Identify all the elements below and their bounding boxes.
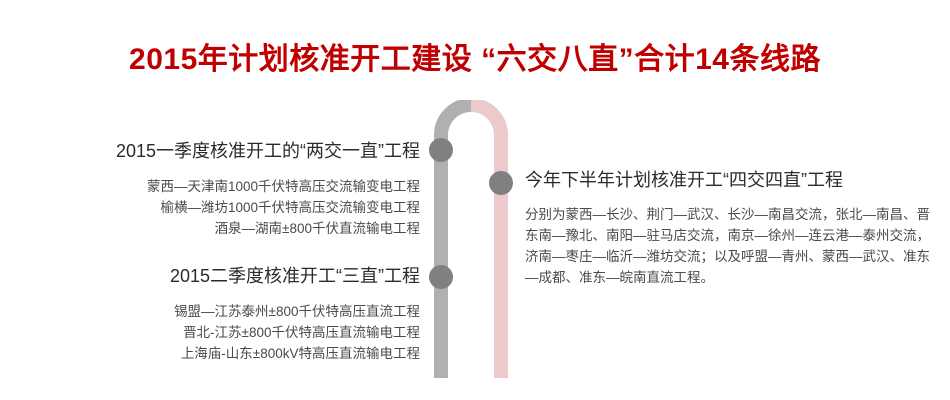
page-title: 2015年计划核准开工建设 “六交八直”合计14条线路 [0, 34, 950, 78]
list-item: 酒泉—湖南±800千伏直流输电工程 [40, 218, 420, 239]
paragraph-line: 分别为蒙西—长沙、荆门—武汉、长沙—南昌交流，张北—南昌、晋 [525, 204, 925, 225]
track-pink-path [471, 105, 501, 378]
infographic-root: 2015年计划核准开工建设 “六交八直”合计14条线路 2015一季度核准开工的… [0, 0, 950, 400]
section-quarter1: 2015一季度核准开工的“两交一直”工程 蒙西—天津南1000千伏特高压交流输变… [40, 138, 420, 239]
section-quarter2: 2015二季度核准开工“三直”工程 锡盟—江苏泰州±800千伏特高压直流工程 晋… [40, 263, 420, 364]
section-second-half-year: 今年下半年计划核准开工“四交四直”工程 分别为蒙西—长沙、荆门—武汉、长沙—南昌… [525, 168, 925, 288]
list-item: 蒙西—天津南1000千伏特高压交流输变电工程 [40, 176, 420, 197]
second-half-year-heading: 今年下半年计划核准开工“四交四直”工程 [525, 168, 925, 192]
timeline-connector-graphic [420, 100, 530, 385]
quarter2-project-list: 锡盟—江苏泰州±800千伏特高压直流工程 晋北-江苏±800千伏特高压直流输电工… [40, 301, 420, 364]
list-item: 晋北-江苏±800千伏特高压直流输电工程 [40, 322, 420, 343]
node-q2-dot [429, 265, 453, 289]
paragraph-line: 东南—豫北、南阳—驻马店交流，南京—徐州—连云港—泰州交流， [525, 225, 925, 246]
list-item: 锡盟—江苏泰州±800千伏特高压直流工程 [40, 301, 420, 322]
quarter2-heading: 2015二季度核准开工“三直”工程 [40, 263, 420, 289]
node-half-year-dot [489, 171, 513, 195]
quarter1-heading: 2015一季度核准开工的“两交一直”工程 [40, 138, 420, 164]
node-q1-dot [429, 138, 453, 162]
second-half-year-paragraph: 分别为蒙西—长沙、荆门—武汉、长沙—南昌交流，张北—南昌、晋 东南—豫北、南阳—… [525, 204, 925, 288]
list-item: 上海庙-山东±800kV特高压直流输电工程 [40, 343, 420, 364]
quarter1-project-list: 蒙西—天津南1000千伏特高压交流输变电工程 榆横—潍坊1000千伏特高压交流输… [40, 176, 420, 239]
list-item: 榆横—潍坊1000千伏特高压交流输变电工程 [40, 197, 420, 218]
paragraph-line: 济南—枣庄—临沂—潍坊交流；以及呼盟—青州、蒙西—武汉、准东 [525, 246, 925, 267]
paragraph-line: —成都、准东—皖南直流工程。 [525, 267, 925, 288]
